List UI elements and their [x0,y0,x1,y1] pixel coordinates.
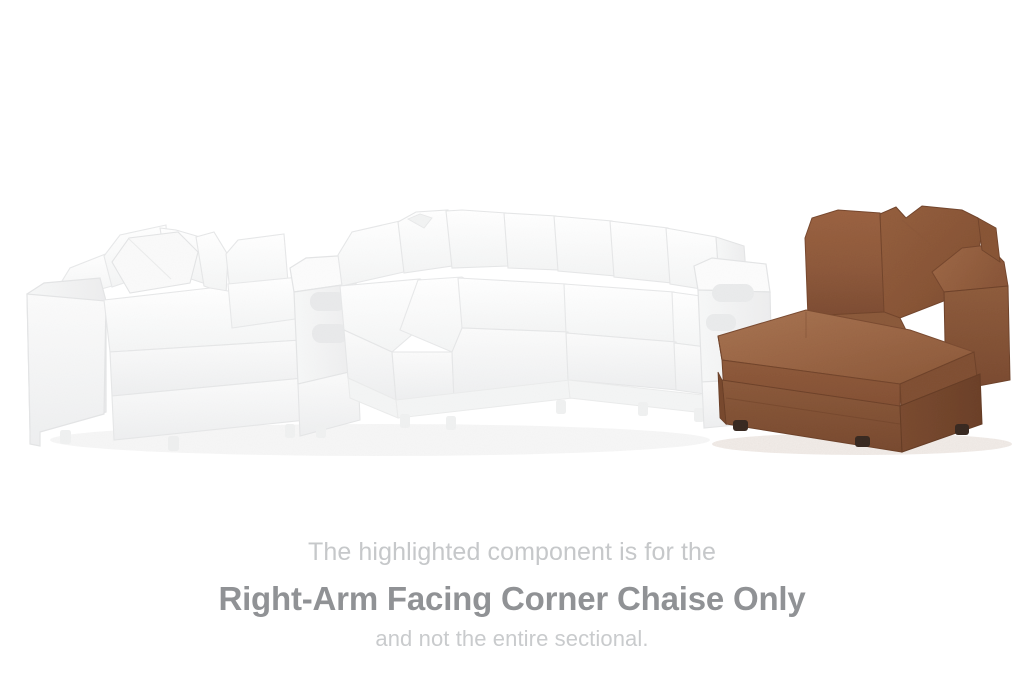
leg [168,436,179,451]
leg [556,400,566,414]
caption-block: The highlighted component is for the Rig… [0,500,1024,683]
leg [694,408,704,422]
back-cushion [610,221,672,283]
back-cushion [554,216,616,276]
caption-line-main: Right-Arm Facing Corner Chaise Only [0,580,1024,618]
chaise-foot [855,436,870,447]
seat-cushion [458,278,568,332]
caption-line-top: The highlighted component is for the [0,538,1024,567]
back-cushion [504,213,560,270]
caption-line-bottom: and not the entire sectional. [0,626,1024,652]
chaise-foot [955,424,969,435]
product-figure [0,0,1024,500]
seat-front [392,352,454,400]
cupholder-icon [706,314,736,331]
leg [316,424,326,438]
chaise-foot [733,420,748,431]
leg [446,416,456,430]
seat-cushion [564,284,676,342]
leg [60,430,71,444]
module-corner-and-back-row [338,210,750,430]
leg [285,424,295,438]
leg [400,414,410,428]
back-cushion-corner [446,210,508,268]
chaise-back-cushion [805,210,885,318]
cupholder-icon [712,284,754,302]
cupholder-icon [312,324,348,343]
sectional-illustration [0,0,1024,500]
leg [638,402,648,416]
product-highlight-screen: The highlighted component is for the Rig… [0,0,1024,683]
